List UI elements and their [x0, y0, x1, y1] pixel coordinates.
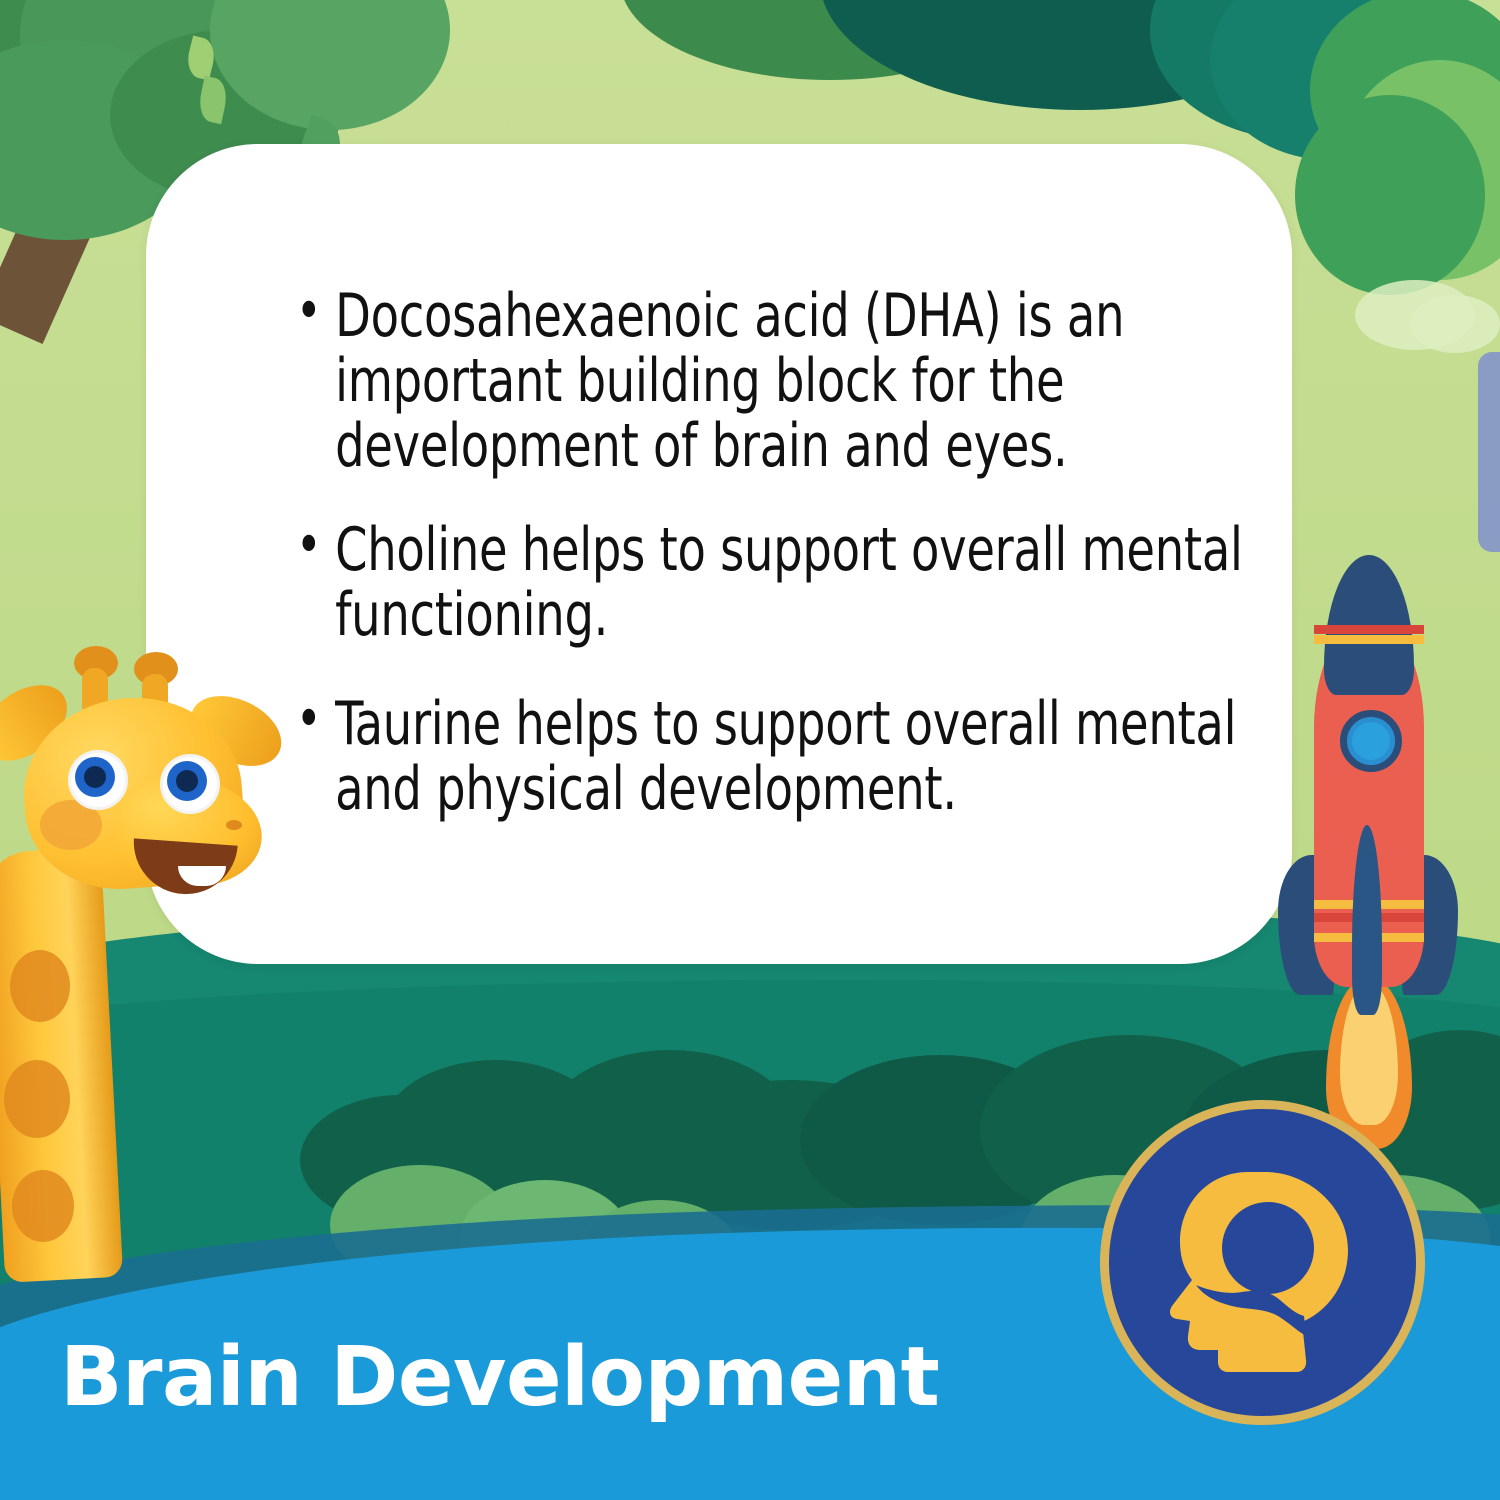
list-item: • Docosahexaenoic acid (DHA) is an impor…	[296, 284, 1319, 478]
list-item: • Taurine helps to support overall menta…	[296, 692, 1319, 822]
content-card: • Docosahexaenoic acid (DHA) is an impor…	[146, 144, 1292, 964]
giraffe-spot	[4, 1060, 70, 1138]
brain-head-icon	[1100, 1100, 1425, 1425]
rocket-window-glass	[1352, 722, 1390, 760]
giraffe-spot	[12, 1170, 74, 1242]
giraffe-pupil	[84, 766, 106, 788]
rocket-stripe	[1314, 625, 1424, 634]
rocket-stripe	[1314, 635, 1424, 644]
list-item-text: Docosahexaenoic acid (DHA) is an importa…	[335, 284, 1319, 478]
list-item: • Choline helps to support overall menta…	[296, 518, 1371, 648]
list-item-text: Choline helps to support overall mental …	[335, 518, 1371, 648]
giraffe-nostril	[226, 820, 242, 830]
bullet-marker: •	[296, 518, 321, 574]
background-post	[1478, 352, 1500, 552]
bullet-list: • Docosahexaenoic acid (DHA) is an impor…	[296, 284, 1222, 862]
tree-foliage-blob	[1295, 95, 1485, 295]
poster-canvas: • Docosahexaenoic acid (DHA) is an impor…	[0, 0, 1500, 1500]
rocket-icon	[1272, 555, 1462, 1075]
cloud-shape	[1410, 295, 1500, 353]
list-item-text: Taurine helps to support overall mental …	[335, 692, 1319, 822]
bullet-marker: •	[296, 284, 321, 340]
bullet-marker: •	[296, 692, 321, 748]
giraffe-icon	[0, 650, 282, 1270]
giraffe-pupil	[176, 770, 198, 792]
page-title: Brain Development	[60, 1330, 939, 1425]
giraffe-spot	[10, 950, 70, 1022]
